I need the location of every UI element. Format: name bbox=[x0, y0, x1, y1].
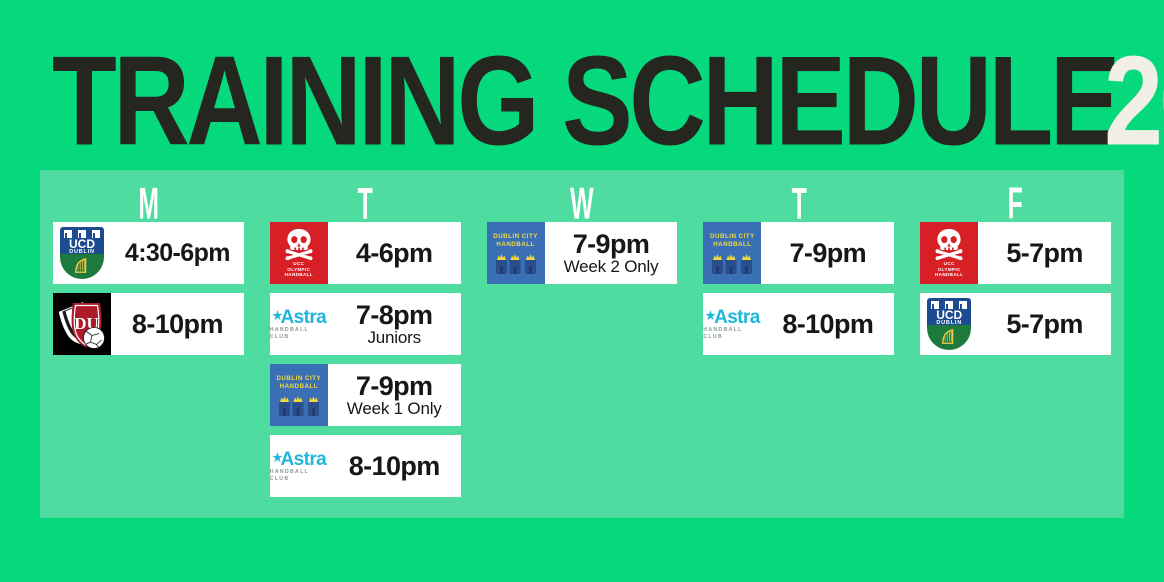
session-card[interactable]: UCCOLYMPICHANDBALL 5-7pm bbox=[920, 222, 1111, 284]
session-card[interactable]: Astra HANDBALL CLUB 8-10pm bbox=[703, 293, 894, 355]
logo-dublin-city-handball: DUBLIN CITYHANDBALL bbox=[487, 222, 545, 284]
session-details: 4:30-6pm bbox=[111, 222, 244, 284]
day-header-row: MTWTF bbox=[40, 180, 1124, 228]
session-card[interactable]: UCCOLYMPICHANDBALL 4-6pm bbox=[270, 222, 461, 284]
three-castles-icon bbox=[709, 252, 755, 274]
logo-astra-handball-club: Astra HANDBALL CLUB bbox=[703, 293, 761, 355]
day-column-friday: UCCOLYMPICHANDBALL 5-7pm UCD DUBLIN 5-7p… bbox=[907, 222, 1124, 497]
three-castles-icon bbox=[493, 252, 539, 274]
skull-and-crossbones-icon bbox=[282, 228, 316, 260]
session-card[interactable]: DUBLIN CITYHANDBALL bbox=[703, 222, 894, 284]
schedule-panel: MTWTF UCD DUBLIN 4:30-6pm bbox=[40, 170, 1124, 518]
schedule-columns: UCD DUBLIN 4:30-6pm DU bbox=[40, 222, 1124, 497]
day-letter: W bbox=[570, 182, 593, 227]
day-header-wednesday: W bbox=[474, 180, 691, 228]
logo-ucc-olympic-handball: UCCOLYMPICHANDBALL bbox=[270, 222, 328, 284]
session-time: 8-10pm bbox=[782, 309, 873, 339]
session-card[interactable]: Astra HANDBALL CLUB 7-8pm Juniors bbox=[270, 293, 461, 355]
day-header-monday: M bbox=[40, 180, 257, 228]
session-note: Week 1 Only bbox=[347, 399, 442, 418]
session-card[interactable]: DUBLIN CITYHANDBALL bbox=[487, 222, 678, 284]
session-card[interactable]: DUBLIN CITYHANDBALL bbox=[270, 364, 461, 426]
session-card[interactable]: DU 8-10pm bbox=[53, 293, 244, 355]
session-details: 7-9pm Week 2 Only bbox=[545, 222, 678, 284]
logo-dch-text: DUBLIN CITYHANDBALL bbox=[276, 375, 321, 391]
page-title-year: 2025 bbox=[1104, 43, 1164, 160]
day-column-wednesday: DUBLIN CITYHANDBALL bbox=[474, 222, 691, 497]
logo-astra-sub: HANDBALL CLUB bbox=[270, 327, 328, 341]
session-note: Week 2 Only bbox=[564, 257, 659, 276]
session-details: 5-7pm bbox=[978, 222, 1111, 284]
logo-ucd-dublin: UCD DUBLIN bbox=[920, 293, 978, 355]
session-card[interactable]: UCD DUBLIN 5-7pm bbox=[920, 293, 1111, 355]
du-shield-icon: DU bbox=[56, 298, 108, 350]
session-time: 7-9pm bbox=[573, 231, 650, 258]
session-card[interactable]: Astra HANDBALL CLUB 8-10pm bbox=[270, 435, 461, 497]
harp-icon bbox=[940, 329, 958, 345]
session-details: 7-9pm Week 1 Only bbox=[328, 364, 461, 426]
logo-astra-handball-club: Astra HANDBALL CLUB bbox=[270, 293, 328, 355]
logo-astra-handball-club: Astra HANDBALL CLUB bbox=[270, 435, 328, 497]
logo-ucc-text: UCCOLYMPICHANDBALL bbox=[935, 261, 963, 278]
session-details: 8-10pm bbox=[111, 293, 244, 355]
session-time: 5-7pm bbox=[1006, 309, 1083, 339]
session-time: 4:30-6pm bbox=[125, 238, 230, 268]
logo-dch-text: DUBLIN CITYHANDBALL bbox=[493, 233, 538, 249]
session-time: 7-8pm bbox=[356, 302, 433, 329]
session-card[interactable]: UCD DUBLIN 4:30-6pm bbox=[53, 222, 244, 284]
session-time: 8-10pm bbox=[132, 309, 223, 339]
logo-ucc-olympic-handball: UCCOLYMPICHANDBALL bbox=[920, 222, 978, 284]
harp-icon bbox=[73, 258, 91, 274]
logo-astra-sub: HANDBALL CLUB bbox=[270, 469, 328, 483]
session-note: Juniors bbox=[367, 328, 420, 347]
day-letter: T bbox=[791, 182, 806, 227]
day-letter: T bbox=[358, 182, 373, 227]
logo-astra-word: Astra bbox=[281, 450, 327, 469]
logo-dublin-city-handball: DUBLIN CITYHANDBALL bbox=[270, 364, 328, 426]
page-title: TRAINING SCHEDULE2025 bbox=[52, 54, 1118, 150]
session-time: 4-6pm bbox=[356, 238, 433, 268]
session-time: 8-10pm bbox=[349, 451, 440, 481]
day-header-thursday: T bbox=[690, 180, 907, 228]
logo-astra-sub: HANDBALL CLUB bbox=[703, 327, 761, 341]
session-time: 7-9pm bbox=[356, 373, 433, 400]
three-castles-icon bbox=[276, 394, 322, 416]
logo-astra-word: Astra bbox=[281, 308, 327, 327]
session-details: 5-7pm bbox=[978, 293, 1111, 355]
session-details: 8-10pm bbox=[328, 435, 461, 497]
logo-dch-text: DUBLIN CITYHANDBALL bbox=[710, 233, 755, 249]
day-letter: M bbox=[138, 182, 159, 227]
session-time: 7-9pm bbox=[790, 238, 867, 268]
skull-and-crossbones-icon bbox=[932, 228, 966, 260]
logo-ucc-text: UCCOLYMPICHANDBALL bbox=[285, 261, 313, 278]
session-details: 7-9pm bbox=[761, 222, 894, 284]
session-details: 4-6pm bbox=[328, 222, 461, 284]
session-time: 5-7pm bbox=[1006, 238, 1083, 268]
day-column-monday: UCD DUBLIN 4:30-6pm DU bbox=[40, 222, 257, 497]
session-details: 7-8pm Juniors bbox=[328, 293, 461, 355]
logo-ucd-dublin: UCD DUBLIN bbox=[53, 222, 111, 284]
logo-astra-word: Astra bbox=[714, 308, 760, 327]
day-header-tuesday: T bbox=[257, 180, 474, 228]
day-letter: F bbox=[1008, 182, 1023, 227]
page-title-main: TRAINING SCHEDULE bbox=[52, 43, 1117, 160]
logo-dublin-city-handball: DUBLIN CITYHANDBALL bbox=[703, 222, 761, 284]
session-details: 8-10pm bbox=[761, 293, 894, 355]
logo-dublin-university: DU bbox=[53, 293, 111, 355]
day-column-tuesday: UCCOLYMPICHANDBALL 4-6pm Astra HANDBALL … bbox=[257, 222, 474, 497]
day-header-friday: F bbox=[907, 180, 1124, 228]
day-column-thursday: DUBLIN CITYHANDBALL bbox=[690, 222, 907, 497]
